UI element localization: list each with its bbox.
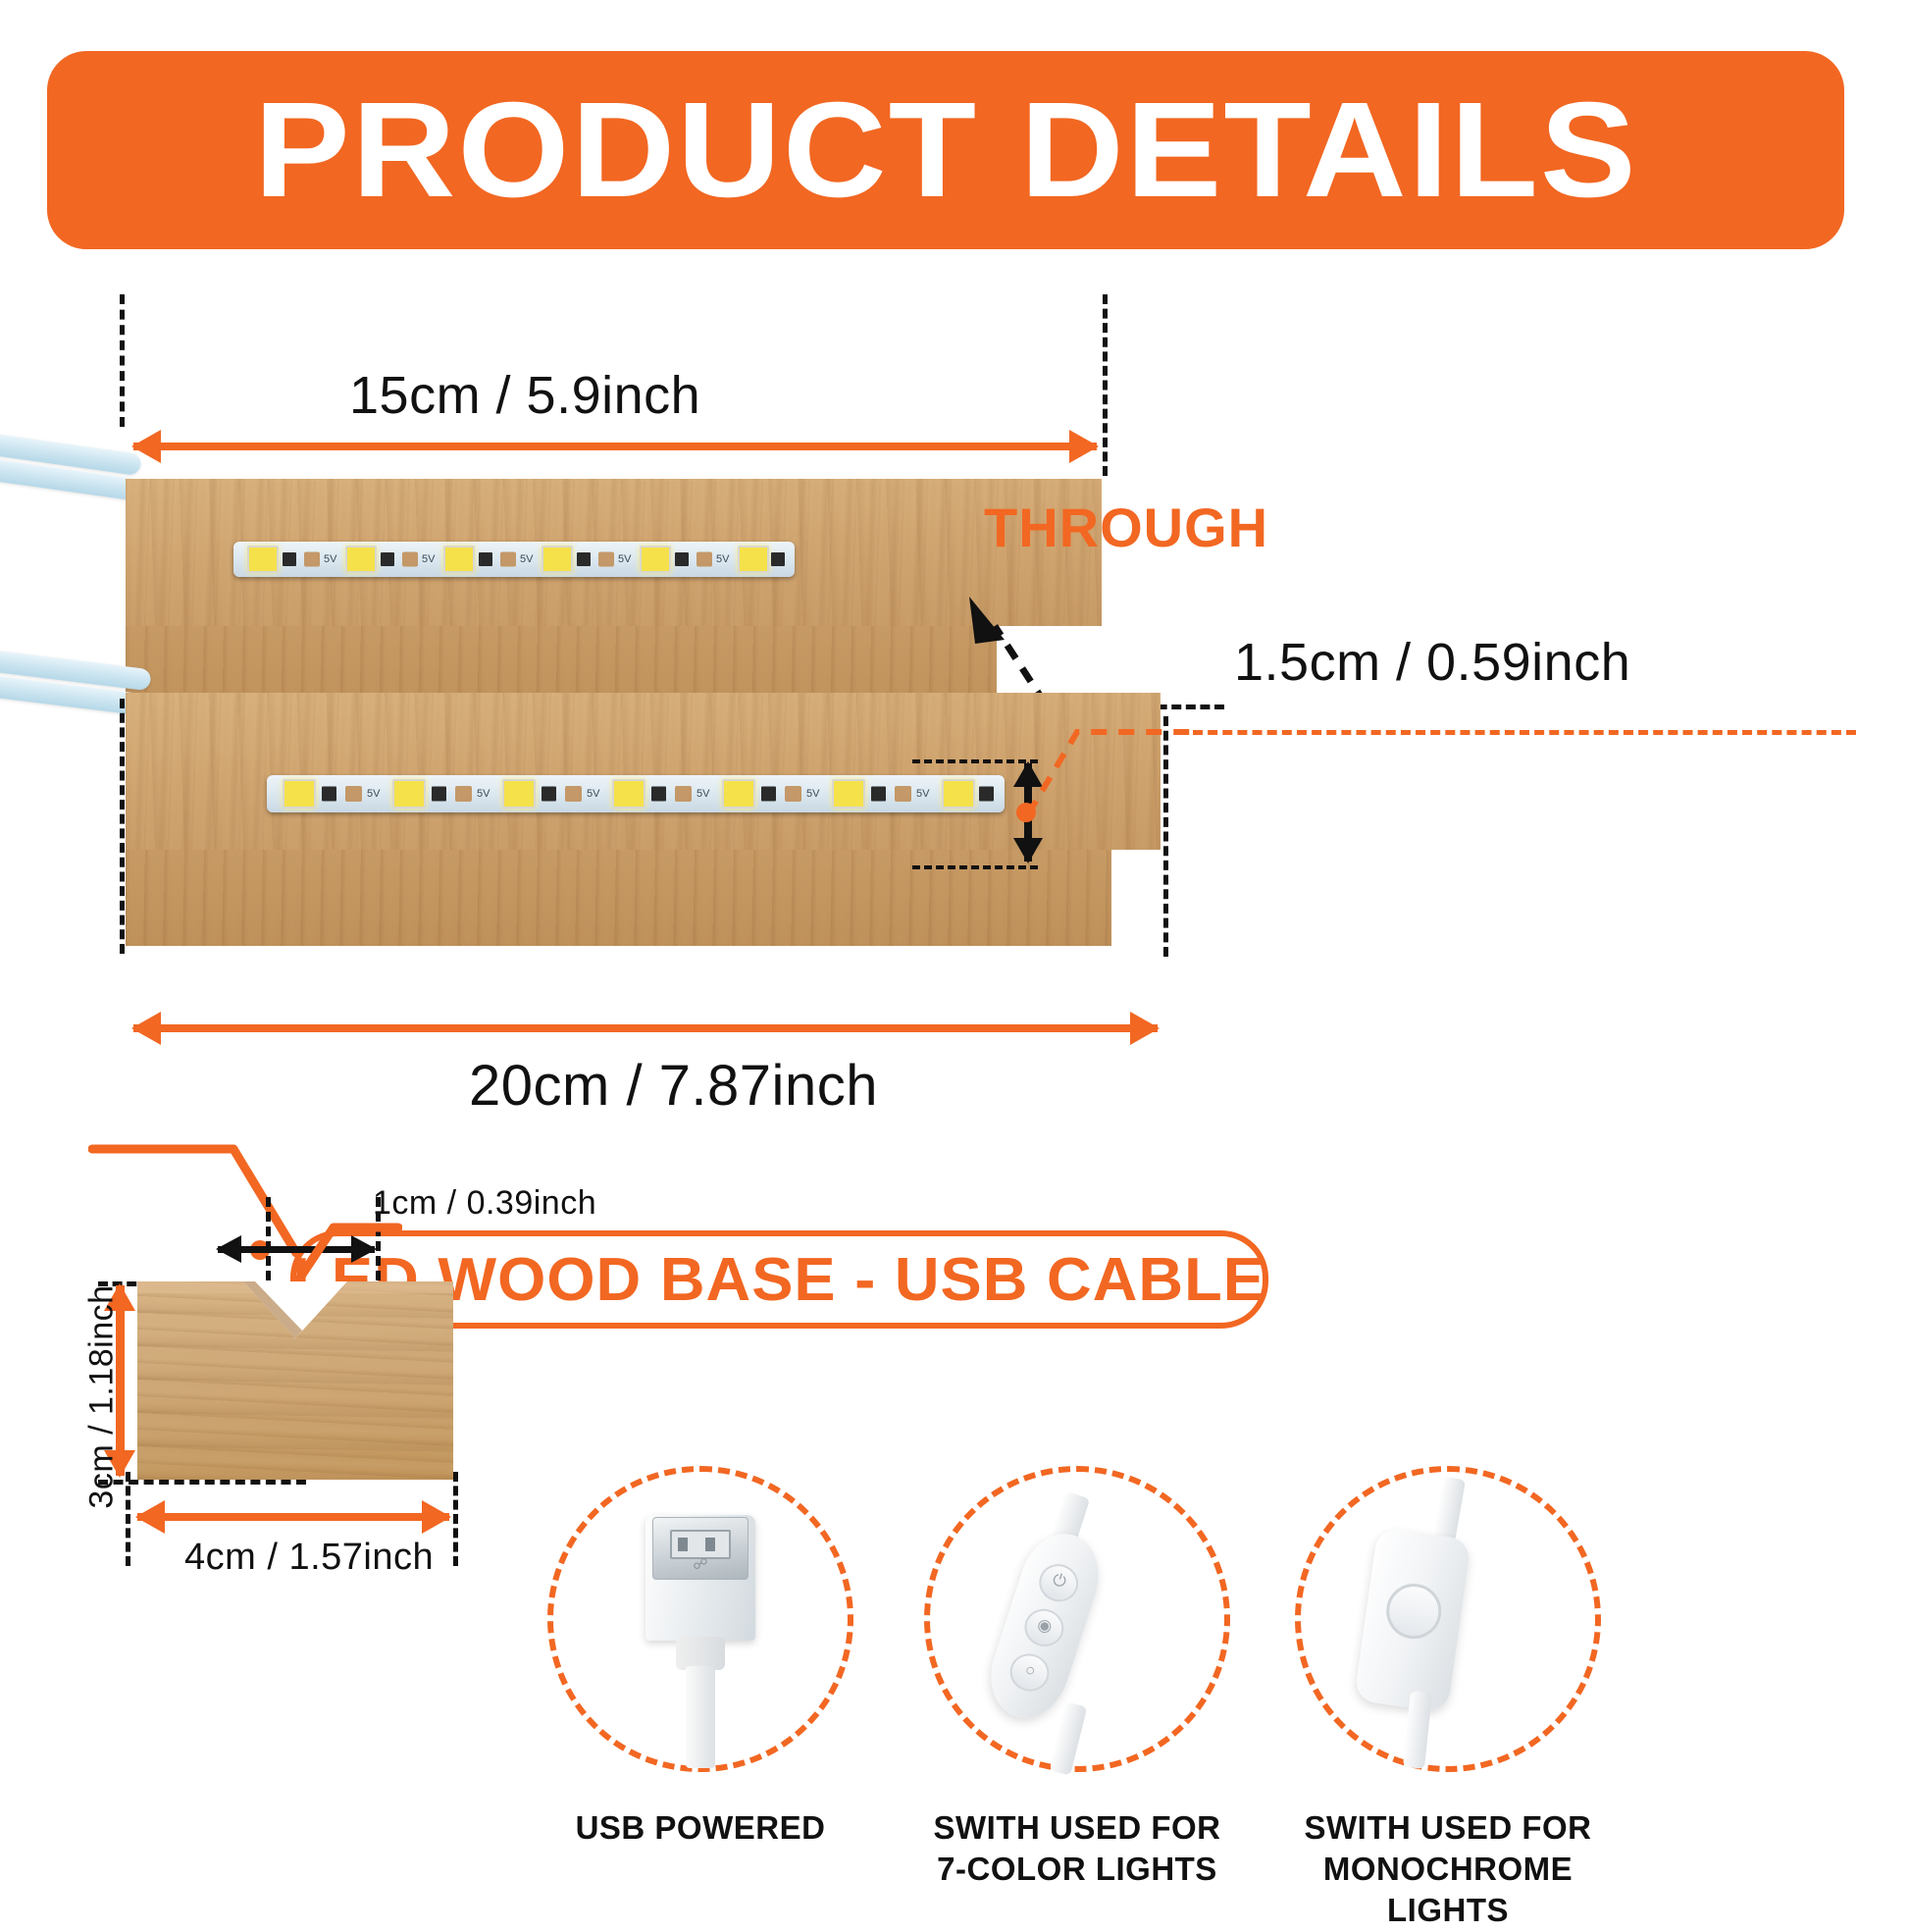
usb-connector-circle: ☍ — [547, 1466, 853, 1772]
guide-left-bottom — [120, 699, 125, 954]
usb-pin — [705, 1538, 715, 1551]
led-voltage-marking: 5V — [716, 553, 729, 565]
led-resistor — [651, 787, 666, 802]
guide-left-top — [120, 294, 125, 427]
single-button-switch-icon — [1354, 1527, 1471, 1713]
led-resistor — [577, 552, 591, 566]
feature-switch-7color: ⏻ ◉ ○ SWITH USED FOR 7-COLOR LIGHTS — [912, 1466, 1242, 1890]
width-top-label: 15cm / 5.9inch — [349, 365, 700, 426]
groove-depth-guide-bottom — [912, 865, 1038, 869]
led-voltage-marking: 5V — [324, 553, 336, 565]
three-button-switch-icon: ⏻ ◉ ○ — [979, 1524, 1110, 1729]
usb-cable — [686, 1666, 715, 1768]
width-bottom-label: 20cm / 7.87inch — [469, 1053, 878, 1119]
feature-usb-powered: ☍ USB POWERED — [536, 1466, 865, 1849]
led-resistor — [675, 552, 689, 566]
groove-depth-leader — [1020, 675, 1197, 822]
feature-caption: SWITH USED FOR MONOCHROME LIGHTS — [1283, 1807, 1613, 1932]
led-chip — [392, 779, 426, 809]
usb-connector-icon: ☍ — [645, 1515, 755, 1641]
led-resistor — [479, 552, 492, 566]
feature-switch-monochrome: SWITH USED FOR MONOCHROME LIGHTS — [1283, 1466, 1613, 1932]
led-chip — [612, 779, 645, 809]
switch-7color-wire-bottom — [1050, 1701, 1088, 1775]
led-voltage-marking: 5V — [477, 788, 490, 800]
usb-trident-icon: ☍ — [689, 1558, 712, 1572]
led-chip — [542, 546, 573, 573]
led-resistor — [322, 787, 336, 802]
led-resistor — [283, 552, 296, 566]
wood-board-bottom — [126, 693, 1161, 850]
width-bottom-arrow — [133, 1024, 1158, 1032]
depth-guide-right — [453, 1472, 458, 1566]
led-strip-top: 5V 5V 5V 5V 5V — [233, 542, 795, 577]
led-pad — [345, 786, 362, 802]
led-strip-bottom-inner: 5V 5V 5V 5V 5V 5V — [267, 775, 1005, 812]
led-strip-top-inner: 5V 5V 5V 5V 5V — [233, 542, 795, 577]
led-chip — [502, 779, 536, 809]
through-label: THROUGH — [984, 496, 1268, 559]
led-resistor — [761, 787, 776, 802]
led-pad — [500, 552, 516, 567]
led-voltage-marking: 5V — [422, 553, 435, 565]
led-chip — [738, 546, 769, 573]
depth-label: 4cm / 1.57inch — [184, 1537, 434, 1579]
height-label: 3cm / 1.18inch — [83, 1284, 122, 1508]
groove-width-label-leader — [294, 1222, 402, 1290]
groove-depth-label-rule — [1193, 730, 1856, 735]
led-resistor — [979, 787, 994, 802]
led-chip — [640, 546, 671, 573]
page-title: PRODUCT DETAILS — [254, 82, 1638, 218]
led-resistor — [771, 552, 785, 566]
wood-board-bottom-front — [126, 850, 1111, 946]
usb-strain-relief — [676, 1637, 725, 1670]
groove-width-label: 1cm / 0.39inch — [373, 1184, 596, 1223]
depth-arrow — [137, 1513, 449, 1521]
led-pad — [565, 786, 582, 802]
led-chip — [942, 779, 975, 809]
led-pad — [304, 552, 320, 567]
led-voltage-marking: 5V — [618, 553, 631, 565]
led-chip — [443, 546, 475, 573]
led-chip — [832, 779, 865, 809]
led-voltage-marking: 5V — [806, 788, 819, 800]
feature-caption: USB POWERED — [536, 1807, 865, 1849]
led-chip — [722, 779, 755, 809]
usb-slot — [670, 1530, 731, 1559]
switch-button-mode[interactable]: ◉ — [1019, 1604, 1068, 1652]
led-pad — [785, 786, 801, 802]
led-pad — [697, 552, 712, 567]
header-banner: PRODUCT DETAILS — [47, 51, 1844, 249]
guide-right-15cm — [1103, 294, 1108, 476]
led-pad — [675, 786, 692, 802]
width-top-arrow — [133, 443, 1097, 450]
led-voltage-marking: 5V — [520, 553, 533, 565]
depth-guide-left — [126, 1472, 130, 1566]
led-voltage-marking: 5V — [697, 788, 709, 800]
led-resistor — [542, 787, 556, 802]
switch-7color-circle: ⏻ ◉ ○ — [924, 1466, 1230, 1772]
switch-monochrome-circle — [1295, 1466, 1601, 1772]
led-resistor — [871, 787, 886, 802]
switch-button-power[interactable]: ⏻ — [1034, 1559, 1083, 1607]
led-pad — [455, 786, 472, 802]
led-chip — [283, 779, 316, 809]
led-strip-bottom: 5V 5V 5V 5V 5V 5V — [267, 775, 1005, 812]
groove-depth-label: 1.5cm / 0.59inch — [1234, 632, 1630, 693]
wood-cross-section — [137, 1281, 453, 1480]
led-chip — [345, 546, 377, 573]
led-pad — [895, 786, 911, 802]
led-resistor — [432, 787, 446, 802]
led-voltage-marking: 5V — [587, 788, 599, 800]
led-pad — [402, 552, 418, 567]
led-chip — [247, 546, 279, 573]
led-voltage-marking: 5V — [916, 788, 929, 800]
switch-button-power[interactable] — [1383, 1580, 1445, 1642]
guide-right-20cm — [1163, 716, 1168, 957]
wood-cross-section-groove — [137, 1281, 453, 1480]
led-resistor — [381, 552, 394, 566]
feature-caption: SWITH USED FOR 7-COLOR LIGHTS — [912, 1807, 1242, 1890]
switch-button-brightness[interactable]: ○ — [1006, 1648, 1055, 1697]
usb-pin — [678, 1538, 688, 1551]
led-voltage-marking: 5V — [367, 788, 380, 800]
led-pad — [598, 552, 614, 567]
